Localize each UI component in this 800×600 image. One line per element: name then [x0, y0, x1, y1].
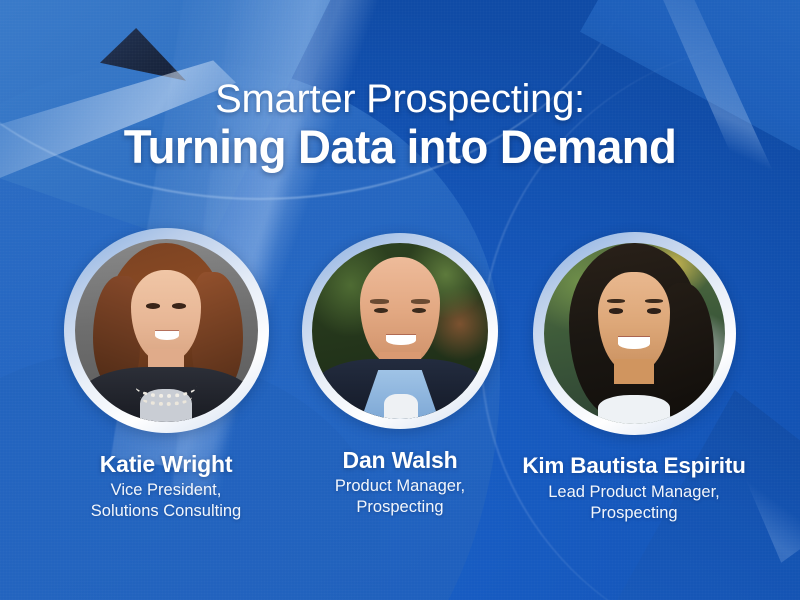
speaker-name: Kim Bautista Espiritu [522, 454, 745, 479]
avatar-photo-katie-wright [75, 239, 258, 422]
speaker-role-line-1: Lead Product Manager, [548, 482, 720, 503]
portrait-smile [386, 335, 416, 346]
portrait-brow-left [370, 299, 389, 304]
portrait-eye-right [647, 308, 661, 313]
title-line-1: Smarter Prospecting: [0, 78, 800, 120]
avatar-photo-kim-bautista-espiritu [544, 243, 725, 424]
page-title: Smarter Prospecting: Turning Data into D… [0, 78, 800, 175]
speaker-role: Lead Product Manager, Prospecting [548, 482, 720, 524]
avatar-ring-kim-bautista-espiritu [533, 232, 736, 435]
title-line-2: Turning Data into Demand [12, 120, 788, 175]
portrait-eye-right [172, 303, 187, 309]
portrait-top [598, 395, 670, 424]
speaker-list: Katie Wright Vice President, Solutions C… [0, 228, 800, 524]
speaker-role-line-1: Vice President, [91, 480, 241, 501]
portrait-undershirt [384, 394, 417, 419]
speaker-role: Vice President, Solutions Consulting [91, 480, 241, 522]
speaker-role-line-2: Prospecting [548, 503, 720, 524]
portrait-eye-left [146, 303, 161, 309]
portrait-smile [155, 331, 179, 340]
portrait-pearl-necklace-second-strand [140, 387, 191, 405]
avatar-ring-katie-wright [64, 228, 269, 433]
portrait-eye-left [609, 308, 623, 313]
speaker-role-line-2: Prospecting [335, 497, 465, 518]
webinar-title-slide: Smarter Prospecting: Turning Data into D… [0, 0, 800, 600]
speaker-role: Product Manager, Prospecting [335, 476, 465, 518]
speaker-card-dan-walsh: Dan Walsh Product Manager, Prospecting [283, 233, 517, 519]
avatar-ring-dan-walsh [302, 233, 498, 429]
speaker-name: Katie Wright [100, 452, 233, 477]
avatar-photo-dan-walsh [312, 243, 488, 419]
portrait-smile [618, 337, 651, 349]
portrait-neck [614, 359, 654, 384]
portrait-brow-right [411, 299, 430, 304]
speaker-name: Dan Walsh [343, 448, 458, 473]
portrait-face [360, 257, 441, 366]
speaker-card-katie-wright: Katie Wright Vice President, Solutions C… [49, 228, 283, 523]
speaker-role-line-1: Product Manager, [335, 476, 465, 497]
speaker-card-kim-bautista-espiritu: Kim Bautista Espiritu Lead Product Manag… [517, 232, 751, 524]
speaker-role-line-2: Solutions Consulting [91, 501, 241, 522]
